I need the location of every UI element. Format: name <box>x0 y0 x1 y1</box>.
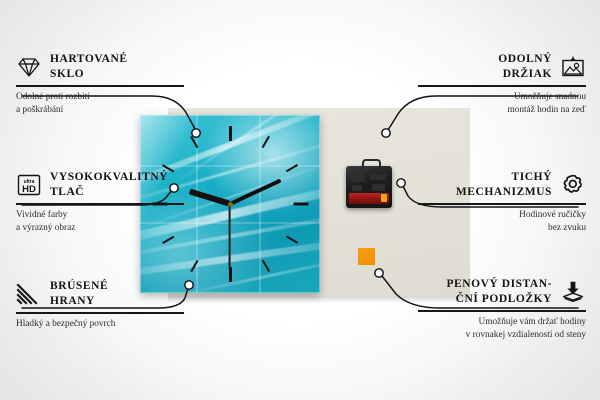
feature-divider <box>16 85 184 86</box>
feature-divider <box>418 310 586 311</box>
feature-heading: ODOLNÝ DRŽIAK <box>418 52 586 81</box>
clock-tick <box>262 260 270 272</box>
ultra-hd-icon: ultra HD <box>16 172 42 198</box>
battery <box>349 193 389 204</box>
clock-center-cap <box>228 202 233 207</box>
clock-tick <box>162 236 174 244</box>
clock-tick <box>293 203 308 206</box>
mechanism-detail <box>372 184 385 191</box>
feature-heading: HARTOVANÉ SKLO <box>16 52 184 81</box>
feature-durable-holder[interactable]: ODOLNÝ DRŽIAK Umožňuje snadnou montáž ho… <box>418 52 586 118</box>
clock-tick <box>262 136 270 148</box>
feature-heading: PENOVÝ DISTAN- ČNÍ PODLOŽKY <box>418 277 586 306</box>
feature-tempered-glass[interactable]: HARTOVANÉ SKLO Odolné proti rozbití a po… <box>16 52 184 118</box>
infographic-canvas: HARTOVANÉ SKLO Odolné proti rozbití a po… <box>0 0 600 400</box>
feature-title: HARTOVANÉ SKLO <box>50 52 184 81</box>
feature-title: ODOLNÝ DRŽIAK <box>418 52 552 81</box>
feature-silent-mechanism[interactable]: TICHÝ MECHANIZMUS Hodinové ručičky bez z… <box>418 170 586 236</box>
mechanism-hook <box>362 159 381 170</box>
feature-description: Hladký a bezpečný povrch <box>16 318 184 331</box>
feature-divider <box>418 203 586 204</box>
glass-seam <box>196 115 198 293</box>
feature-description: Odolné proti rozbití a poškrábání <box>16 91 184 117</box>
feature-description: Umožňuje vám držať hodiny v rovnakej vzd… <box>418 316 586 342</box>
clock-mechanism <box>346 166 392 208</box>
feature-title: BRÚSENÉ HRANY <box>50 279 184 308</box>
second-hand <box>229 204 231 270</box>
feature-divider <box>16 203 184 204</box>
mechanism-detail <box>352 185 362 191</box>
feature-divider <box>16 312 184 313</box>
feature-title: TICHÝ MECHANIZMUS <box>418 170 552 199</box>
feature-heading: BRÚSENÉ HRANY <box>16 279 184 308</box>
feature-title: VYSOKOKVALITNÝ TLAČ <box>50 170 184 199</box>
diamond-icon <box>16 54 42 80</box>
framed-picture-icon <box>560 54 586 80</box>
foam-distance-pad <box>358 248 375 265</box>
feature-description: Umožňuje snadnou montáž hodin na zeď <box>418 91 586 117</box>
feature-heading: TICHÝ MECHANIZMUS <box>418 170 586 199</box>
feature-title: PENOVÝ DISTAN- ČNÍ PODLOŽKY <box>418 277 552 306</box>
gear-icon <box>560 172 586 198</box>
feature-divider <box>418 85 586 86</box>
feature-description: Vividné farby a výrazný obraz <box>16 209 184 235</box>
mechanism-detail <box>370 174 386 180</box>
glass-seam <box>259 115 261 293</box>
clock-tick <box>286 236 298 244</box>
press-layers-icon <box>560 279 586 305</box>
feature-heading: ultra HD VYSOKOKVALITNÝ TLAČ <box>16 170 184 199</box>
feature-foam-spacers[interactable]: PENOVÝ DISTAN- ČNÍ PODLOŽKY Umožňuje vám… <box>418 277 586 343</box>
svg-text:HD: HD <box>22 184 36 195</box>
clock-tick <box>229 126 232 141</box>
feature-high-quality-print[interactable]: ultra HD VYSOKOKVALITNÝ TLAČ Vividné far… <box>16 170 184 236</box>
mechanism-detail <box>351 174 365 182</box>
feature-description: Hodinové ručičky bez zvuku <box>418 209 586 235</box>
ground-edges-icon <box>16 281 42 307</box>
feature-ground-edges[interactable]: BRÚSENÉ HRANY Hladký a bezpečný povrch <box>16 279 184 331</box>
